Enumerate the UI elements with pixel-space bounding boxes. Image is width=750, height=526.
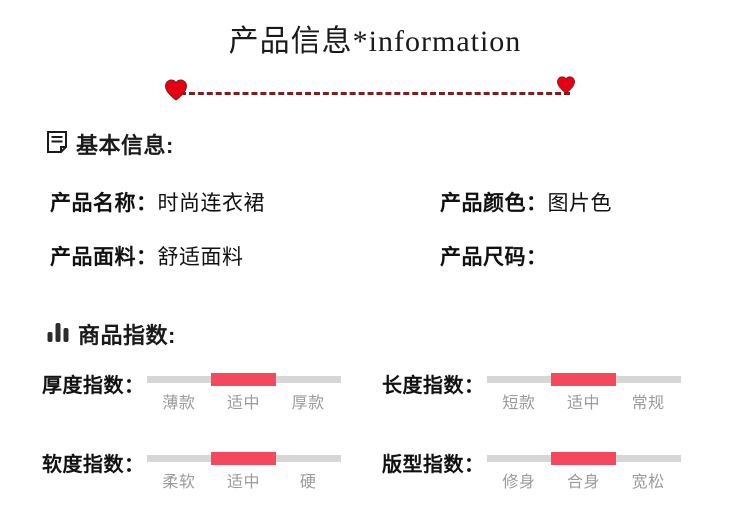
slider-segment[interactable]: [147, 455, 212, 462]
info-label: 产品颜色：: [440, 187, 548, 217]
slider-labels: 柔软 适中 硬: [147, 468, 341, 492]
info-label: 产品面料：: [50, 241, 158, 271]
slider-labels: 薄款 适中 厚款: [147, 389, 341, 413]
slider-segment-active[interactable]: [551, 373, 616, 386]
note-icon: [46, 130, 68, 159]
slider-option: 适中: [551, 389, 616, 413]
info-field-product-fabric: 产品面料： 舒适面料: [50, 241, 440, 271]
slider-segment-active[interactable]: [211, 452, 276, 465]
index-softness: 软度指数： 柔软 适中 硬: [42, 447, 382, 492]
slider-track[interactable]: [147, 455, 341, 462]
page-header: 产品信息*information: [0, 24, 750, 86]
slider-segment[interactable]: [487, 455, 552, 462]
bar-chart-icon: [46, 320, 70, 349]
info-label: 产品尺码：: [440, 241, 548, 271]
info-row: 产品名称： 时尚连衣裙 产品颜色： 图片色: [50, 186, 710, 218]
slider-option: 常规: [616, 389, 681, 413]
index-slider[interactable]: 短款 适中 常规: [487, 368, 681, 413]
slider-segment[interactable]: [487, 376, 552, 383]
info-value: 图片色: [548, 187, 613, 217]
index-slider[interactable]: 修身 合身 宽松: [487, 447, 681, 492]
slider-option: 短款: [487, 389, 552, 413]
basic-info-section-heading: 基本信息:: [46, 128, 174, 160]
slider-labels: 修身 合身 宽松: [487, 468, 681, 492]
heart-icon: [556, 76, 576, 94]
slider-segment[interactable]: [616, 455, 681, 462]
slider-segment[interactable]: [147, 376, 212, 383]
info-label: 产品名称：: [50, 187, 158, 217]
slider-track[interactable]: [487, 376, 681, 383]
index-thickness: 厚度指数： 薄款 适中 厚款: [42, 368, 382, 413]
basic-info-title: 基本信息:: [76, 128, 174, 160]
info-field-product-color: 产品颜色： 图片色: [440, 187, 710, 217]
index-label: 版型指数：: [382, 447, 485, 477]
title-dashed-rule: [180, 92, 570, 95]
slider-option: 适中: [211, 468, 276, 492]
page-title: 产品信息*information: [0, 24, 750, 60]
slider-track[interactable]: [487, 455, 681, 462]
slider-segment[interactable]: [276, 376, 341, 383]
slider-option: 柔软: [147, 468, 212, 492]
info-field-product-name: 产品名称： 时尚连衣裙: [50, 187, 440, 217]
product-index-title: 商品指数:: [78, 318, 176, 350]
slider-track[interactable]: [147, 376, 341, 383]
index-length: 长度指数： 短款 适中 常规: [382, 368, 722, 413]
info-row: 产品面料： 舒适面料 产品尺码：: [50, 240, 710, 272]
basic-info-table: 产品名称： 时尚连衣裙 产品颜色： 图片色 产品面料： 舒适面料 产品尺码：: [50, 186, 710, 294]
slider-option: 修身: [487, 468, 552, 492]
index-label: 软度指数：: [42, 447, 145, 477]
info-value: 舒适面料: [158, 241, 244, 271]
slider-option: 硬: [276, 468, 341, 492]
slider-segment[interactable]: [616, 376, 681, 383]
heart-icon: [164, 79, 188, 101]
index-fit: 版型指数： 修身 合身 宽松: [382, 447, 722, 492]
index-slider[interactable]: 柔软 适中 硬: [147, 447, 341, 492]
index-row: 软度指数： 柔软 适中 硬 版型指数：: [42, 447, 722, 492]
index-slider[interactable]: 薄款 适中 厚款: [147, 368, 341, 413]
slider-option: 适中: [211, 389, 276, 413]
index-label: 长度指数：: [382, 368, 485, 398]
slider-option: 合身: [551, 468, 616, 492]
slider-labels: 短款 适中 常规: [487, 389, 681, 413]
slider-option: 宽松: [616, 468, 681, 492]
index-label: 厚度指数：: [42, 368, 145, 398]
info-field-product-size: 产品尺码：: [440, 241, 710, 271]
product-index-section-heading: 商品指数:: [46, 318, 176, 350]
slider-segment-active[interactable]: [551, 452, 616, 465]
slider-segment-active[interactable]: [211, 373, 276, 386]
slider-option: 厚款: [276, 389, 341, 413]
info-value: 时尚连衣裙: [158, 187, 266, 217]
product-index-table: 厚度指数： 薄款 适中 厚款 长度指数：: [42, 368, 722, 526]
slider-segment[interactable]: [276, 455, 341, 462]
slider-option: 薄款: [147, 389, 212, 413]
index-row: 厚度指数： 薄款 适中 厚款 长度指数：: [42, 368, 722, 413]
